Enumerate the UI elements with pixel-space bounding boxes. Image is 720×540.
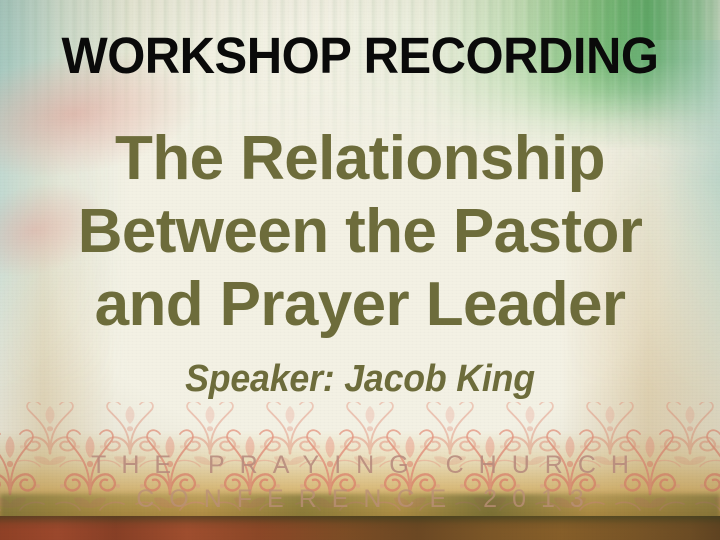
conference-branding: THE PRAYING CHURCH CONFERENCE 2013 <box>0 448 720 516</box>
slide-title-line-2: Between the Pastor <box>0 195 720 268</box>
conference-year-line: CONFERENCE 2013 <box>0 482 720 516</box>
presentation-slide: WORKSHOP RECORDING The Relationship Betw… <box>0 0 720 540</box>
slide-title-line-3: and Prayer Leader <box>0 268 720 341</box>
slide-content: WORKSHOP RECORDING The Relationship Betw… <box>0 0 720 540</box>
slide-title-line-1: The Relationship <box>0 122 720 195</box>
slide-title: The Relationship Between the Pastor and … <box>0 122 720 341</box>
workshop-recording-label: WORKSHOP RECORDING <box>14 26 705 85</box>
conference-name-line: THE PRAYING CHURCH <box>0 448 720 482</box>
speaker-label: Speaker: Jacob King <box>22 358 699 401</box>
